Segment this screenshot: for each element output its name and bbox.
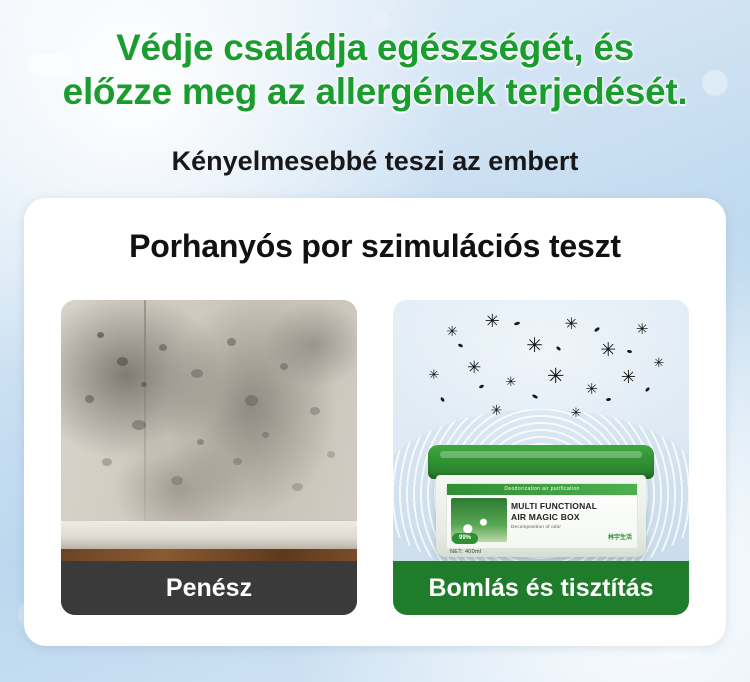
brand-mark: 林宇生活 [608,532,632,541]
headline-line-1: Védje családja egészségét, és [0,26,750,70]
panel-caption-decompose: Bomlás és tisztítás [393,561,689,615]
wall-corner-line [144,300,146,539]
card-title: Porhanyós por szimulációs teszt [24,228,726,265]
baseboard [61,521,357,549]
product-box: Deodorization air purification MULTI FUN… [436,445,646,557]
label-title: MULTI FUNCTIONAL AIR MAGIC BOX [511,501,633,522]
label-subtitle: Decomposition of odor [511,524,633,529]
net-weight-text: NET: 400ml [450,549,481,555]
subheadline: Kényelmesebbé teszi az embert [0,146,750,177]
label-top-text: Deodorization air purification [447,484,637,495]
product-lid [428,445,654,479]
efficiency-badge: 99% [452,533,478,544]
poster-root: Védje családja egészségét, és előzze meg… [0,0,750,682]
label-title-line-1: MULTI FUNCTIONAL [511,501,633,512]
content-card: Porhanyós por szimulációs teszt [24,198,726,646]
panel-decompose: ✳ ✳ ✳ ✳ ✳ ✳ ✳ ✳ ✳ ✳ ✳ ✳ ✳ ✳ ✳ [393,300,689,615]
product-body: Deodorization air purification MULTI FUN… [436,475,646,557]
headline: Védje családja egészségét, és előzze meg… [0,26,750,113]
panel-caption-mold: Penész [61,561,357,615]
panel-mold: Penész [61,300,357,615]
label-title-line-2: AIR MAGIC BOX [511,512,633,523]
headline-line-2: előzze meg az allergének terjedését. [0,70,750,114]
